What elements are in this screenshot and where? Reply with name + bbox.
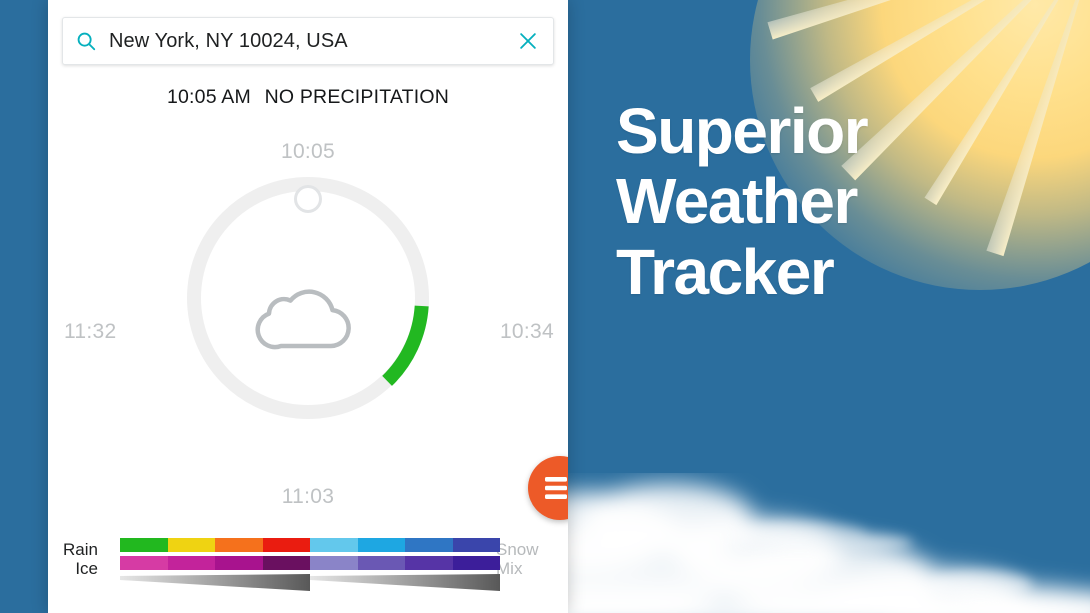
- color-swatch-1: [358, 556, 406, 570]
- color-swatch-3: [453, 556, 501, 570]
- status-condition: NO PRECIPITATION: [265, 86, 450, 108]
- ice-color-scale: [120, 556, 310, 570]
- color-swatch-1: [168, 538, 216, 552]
- headline-line-2: Weather: [616, 166, 1036, 236]
- promo-headline: Superior Weather Tracker: [616, 96, 1036, 307]
- legend-label-snow: Snow: [496, 541, 539, 558]
- color-swatch-0: [310, 556, 358, 570]
- intensity-wedge-right: [310, 574, 500, 592]
- rain-color-scale: [120, 538, 310, 552]
- color-swatch-1: [358, 538, 406, 552]
- dial-handle[interactable]: [294, 185, 322, 213]
- snow-color-scale: [310, 538, 500, 552]
- headline-line-1: Superior: [616, 96, 1036, 166]
- cloud-band-icon: [548, 473, 1090, 613]
- dial-label-left: 11:32: [64, 320, 117, 344]
- precipitation-legend: Rain Ice Snow Mix: [48, 538, 568, 600]
- close-icon[interactable]: [503, 18, 553, 64]
- mix-color-scale: [310, 556, 500, 570]
- color-swatch-3: [263, 538, 311, 552]
- dial-progress-arc: [387, 306, 422, 381]
- search-icon: [63, 30, 109, 52]
- precipitation-dial[interactable]: 10:05 10:34 11:03 11:32: [48, 130, 568, 520]
- dial-label-right: 10:34: [500, 320, 554, 344]
- color-swatch-2: [405, 556, 453, 570]
- color-swatch-0: [120, 556, 168, 570]
- search-input[interactable]: New York, NY 10024, USA: [109, 30, 503, 53]
- color-swatch-1: [168, 556, 216, 570]
- color-swatch-0: [120, 538, 168, 552]
- legend-label-ice: Ice: [75, 560, 98, 577]
- intensity-wedge-left: [120, 574, 310, 592]
- color-swatch-0: [310, 538, 358, 552]
- color-swatch-2: [405, 538, 453, 552]
- color-swatch-2: [215, 538, 263, 552]
- search-bar[interactable]: New York, NY 10024, USA: [62, 17, 554, 65]
- cloud-icon: [253, 278, 363, 358]
- color-swatch-3: [263, 556, 311, 570]
- app-screenshot-panel: New York, NY 10024, USA 10:05 AM NO PREC…: [48, 0, 568, 613]
- color-swatch-3: [453, 538, 501, 552]
- dial-label-top: 10:05: [48, 140, 568, 164]
- legend-label-rain: Rain: [63, 541, 98, 558]
- legend-group-rain-ice: [120, 538, 310, 592]
- dial-label-bottom: 11:03: [48, 485, 568, 509]
- status-time: 10:05 AM: [167, 86, 251, 108]
- legend-group-snow-mix: [310, 538, 500, 592]
- headline-line-3: Tracker: [616, 237, 1036, 307]
- color-swatch-2: [215, 556, 263, 570]
- status-line: 10:05 AM NO PRECIPITATION: [48, 86, 568, 109]
